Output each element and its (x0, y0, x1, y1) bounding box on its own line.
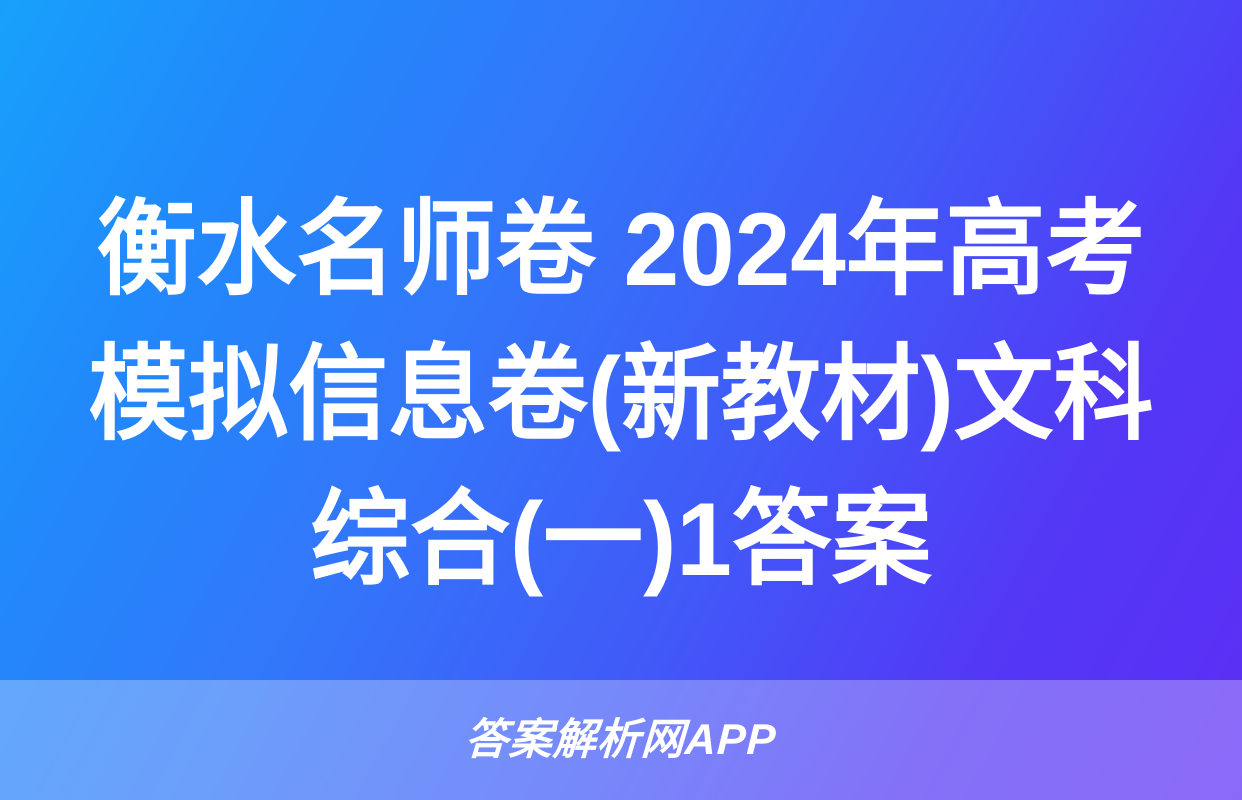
app-watermark-label: 答案解析网APP (464, 719, 778, 762)
footer-watermark-band: 答案解析网APP (0, 680, 1242, 800)
title-line-2: 模拟信息卷(新教材)文科 (25, 323, 1217, 468)
poster-canvas: 衡水名师卷 2024年高考 模拟信息卷(新教材)文科 综合(一)1答案 答案解析… (0, 0, 1242, 800)
title-line-1: 衡水名师卷 2024年高考 (25, 178, 1217, 323)
poster-title-block: 衡水名师卷 2024年高考 模拟信息卷(新教材)文科 综合(一)1答案 (0, 178, 1242, 613)
title-line-3: 综合(一)1答案 (25, 468, 1217, 613)
